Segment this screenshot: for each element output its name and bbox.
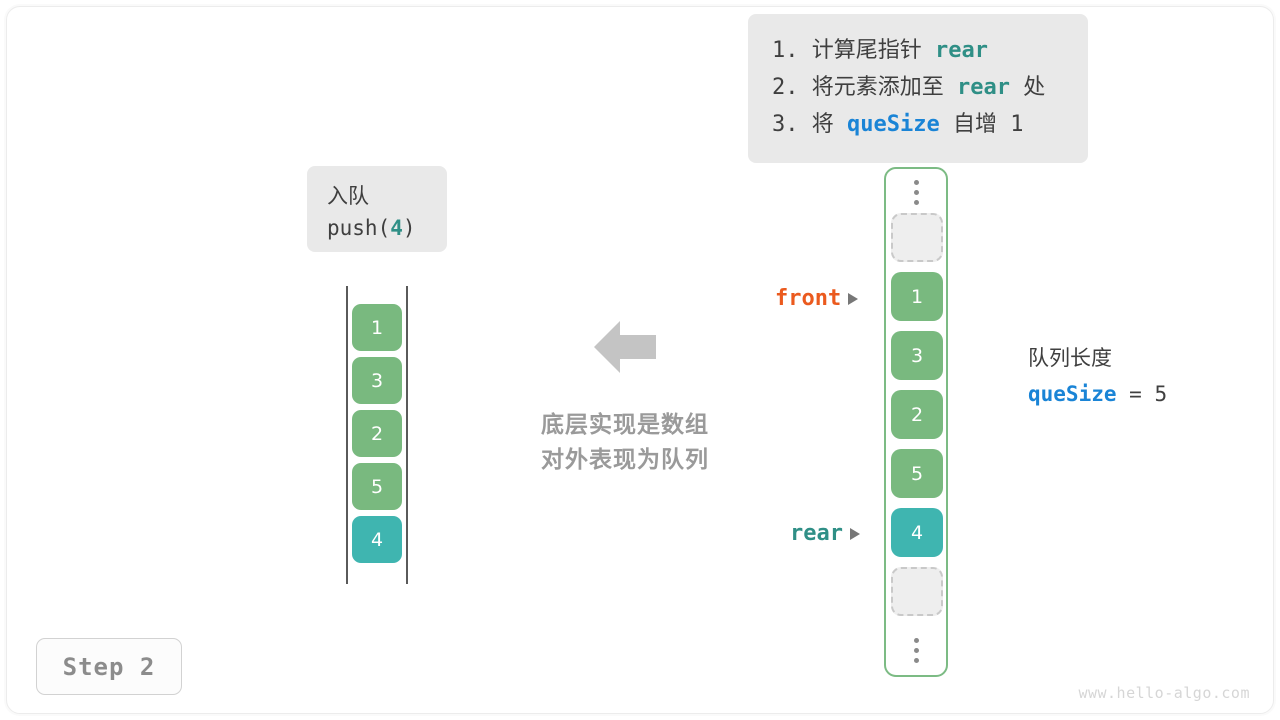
array-cell: 5 — [891, 449, 943, 498]
op-line-1-index: 1. — [772, 38, 799, 63]
step-badge-label: Step 2 — [63, 653, 156, 681]
rear-pointer: rear — [790, 521, 860, 546]
step-badge: Step 2 — [36, 638, 182, 695]
queue-size-expression: queSize = 5 — [1028, 376, 1167, 412]
left-arrow-icon — [594, 318, 656, 376]
queue-cell: 1 — [352, 304, 402, 351]
op-line-1-pre: 计算尾指针 — [812, 38, 935, 63]
array-cell: 3 — [891, 331, 943, 380]
center-caption-line-1: 底层实现是数组 — [500, 408, 750, 443]
queue-rail-left — [346, 286, 348, 584]
queue-cell: 4 — [352, 516, 402, 563]
rear-pointer-label: rear — [790, 521, 843, 546]
push-box-call: push(4) — [327, 212, 427, 244]
operation-note-box: 1. 计算尾指针 rear 2. 将元素添加至 rear 处 3. 将 queS… — [748, 14, 1088, 163]
array-cell-empty — [891, 567, 943, 616]
op-line-2-keyword: rear — [957, 75, 1010, 100]
push-box-title: 入队 — [327, 180, 427, 212]
array-cell: 4 — [891, 508, 943, 557]
queue-size-equals: = — [1117, 382, 1155, 406]
push-call-prefix: push( — [327, 216, 390, 240]
op-line-3-index: 3. — [772, 112, 799, 137]
queue-cell-list: 13254 — [352, 304, 402, 569]
op-line-1-keyword: rear — [935, 38, 988, 63]
array-cell: 1 — [891, 272, 943, 321]
operation-note-line-3: 3. 将 queSize 自增 1 — [772, 106, 1064, 143]
array-container: 13254 — [884, 167, 948, 677]
queue-size-value: 5 — [1154, 382, 1167, 406]
center-caption-line-2: 对外表现为队列 — [500, 443, 750, 478]
queue-size-note: 队列长度 queSize = 5 — [1028, 340, 1167, 412]
diagram-canvas: 1. 计算尾指针 rear 2. 将元素添加至 rear 处 3. 将 queS… — [0, 0, 1280, 720]
operation-note-line-2: 2. 将元素添加至 rear 处 — [772, 69, 1064, 106]
push-operation-box: 入队 push(4) — [307, 166, 447, 252]
push-call-suffix: ) — [403, 216, 416, 240]
bottom-ellipsis-icon — [886, 627, 946, 673]
op-line-3-post: 自增 1 — [940, 112, 1024, 137]
front-pointer-label: front — [775, 286, 841, 311]
watermark: www.hello-algo.com — [1078, 684, 1250, 702]
op-line-2-post: 处 — [1010, 75, 1045, 100]
queue-cell: 5 — [352, 463, 402, 510]
queue-size-title: 队列长度 — [1028, 340, 1167, 376]
array-cell: 2 — [891, 390, 943, 439]
op-line-3-keyword: queSize — [847, 112, 940, 137]
push-call-value: 4 — [390, 216, 403, 240]
center-caption: 底层实现是数组 对外表现为队列 — [500, 408, 750, 478]
operation-note-line-1: 1. 计算尾指针 rear — [772, 32, 1064, 69]
array-cell-list: 13254 — [891, 213, 943, 626]
top-ellipsis-icon — [886, 169, 946, 215]
queue-cell: 3 — [352, 357, 402, 404]
queue-cell: 2 — [352, 410, 402, 457]
op-line-3-pre: 将 — [812, 112, 847, 137]
queue-rail-right — [406, 286, 408, 584]
front-pointer-arrow-icon — [848, 293, 858, 305]
op-line-2-pre: 将元素添加至 — [812, 75, 957, 100]
front-pointer: front — [775, 286, 858, 311]
queue-size-var: queSize — [1028, 382, 1117, 406]
op-line-2-index: 2. — [772, 75, 799, 100]
watermark-text: www.hello-algo.com — [1078, 684, 1250, 702]
array-cell-empty — [891, 213, 943, 262]
rear-pointer-arrow-icon — [850, 528, 860, 540]
